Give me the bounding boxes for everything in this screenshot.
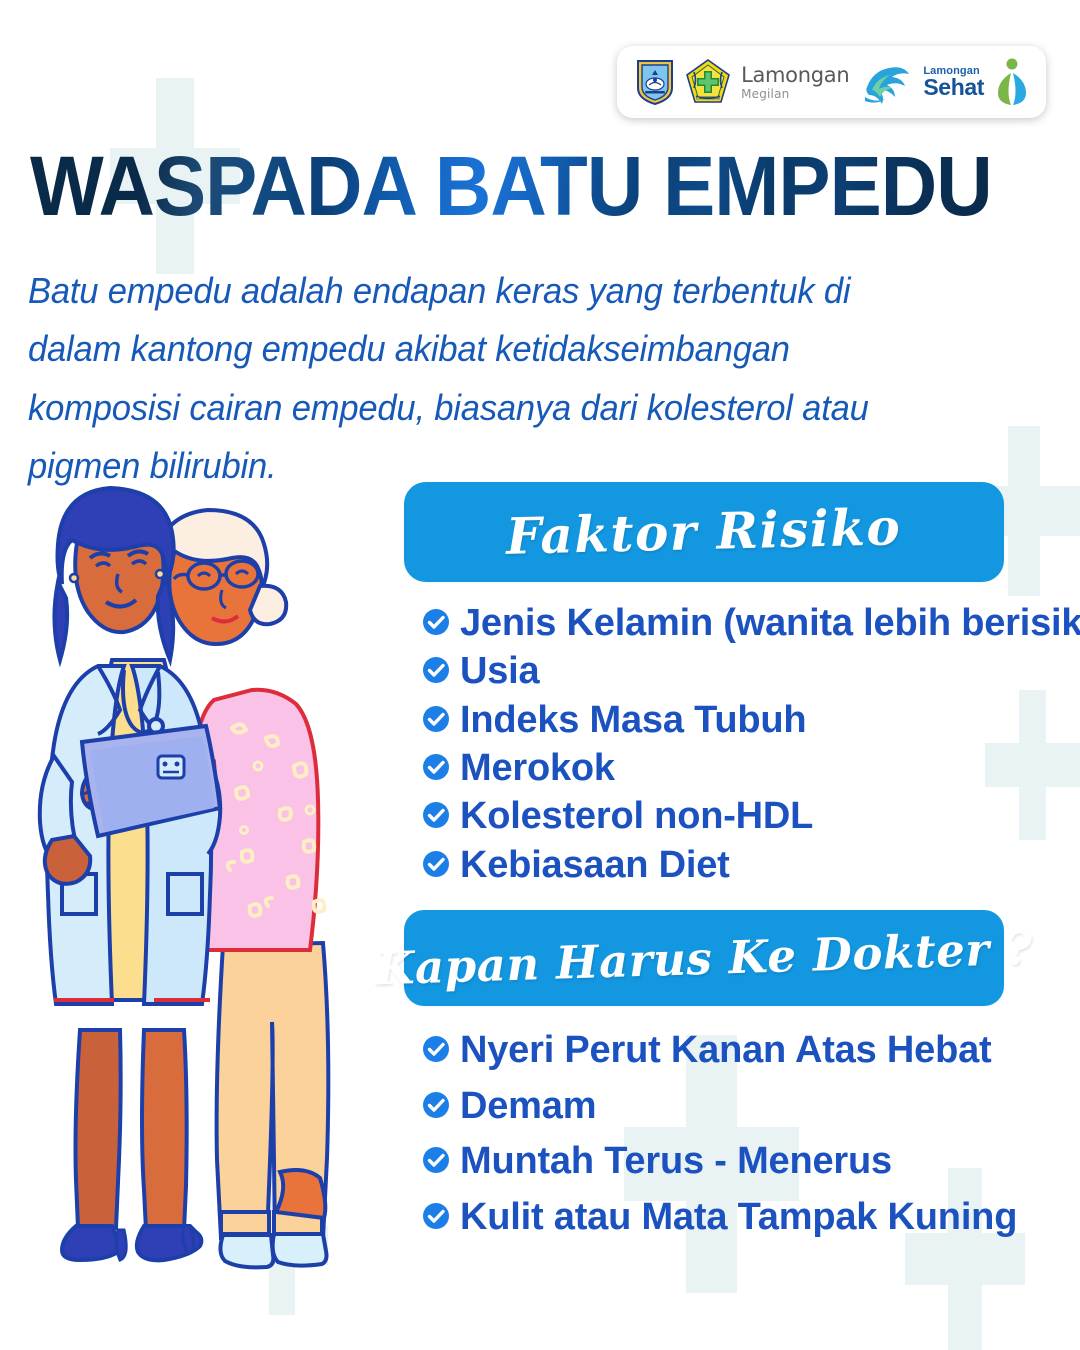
list-item-label: Jenis Kelamin (wanita lebih berisiko) xyxy=(460,600,1080,646)
list-item-label: Demam xyxy=(460,1084,596,1130)
banner-faktor-risiko-label: Faktor Risiko xyxy=(506,502,902,562)
risk-factor-list: Jenis Kelamin (wanita lebih berisiko) Us… xyxy=(404,600,1004,888)
check-circle-icon xyxy=(422,705,450,733)
check-circle-icon xyxy=(422,1202,450,1230)
banner-kapan-ke-dokter: Kapan Harus Ke Dokter ? xyxy=(404,910,1004,1006)
lamongan-sehat-wordmark: Lamongan Sehat xyxy=(923,66,984,99)
list-item: Indeks Masa Tubuh xyxy=(422,697,1004,743)
list-item-label: Nyeri Perut Kanan Atas Hebat xyxy=(460,1028,991,1074)
check-circle-icon xyxy=(422,1035,450,1063)
logo-bar: LAMONGAN Lamongan Megilan Lamongan Sehat xyxy=(617,46,1046,118)
list-item: Kolesterol non-HDL xyxy=(422,793,1004,839)
list-item: Merokok xyxy=(422,745,1004,791)
list-item-label: Kulit atau Mata Tampak Kuning xyxy=(460,1195,1017,1241)
content-column: Faktor Risiko Jenis Kelamin (wanita lebi… xyxy=(404,482,1004,1251)
list-item-label: Kebiasaan Diet xyxy=(460,842,730,888)
list-item-label: Indeks Masa Tubuh xyxy=(460,697,806,743)
check-circle-icon xyxy=(422,801,450,829)
page-title: WASPADA BATU EMPEDU xyxy=(30,148,992,225)
symptom-list: Nyeri Perut Kanan Atas Hebat Demam Munta… xyxy=(404,1028,1004,1240)
lamongan-wave-icon xyxy=(859,57,913,107)
banner-kapan-ke-dokter-label: Kapan Harus Ke Dokter ? xyxy=(374,925,1033,991)
check-circle-icon xyxy=(422,656,450,684)
list-item: Demam xyxy=(422,1084,1004,1130)
check-circle-icon xyxy=(422,1091,450,1119)
list-item-label: Usia xyxy=(460,648,539,694)
list-item: Jenis Kelamin (wanita lebih berisiko) xyxy=(422,600,1004,646)
list-item-label: Muntah Terus - Menerus xyxy=(460,1139,892,1185)
list-item: Kulit atau Mata Tampak Kuning xyxy=(422,1195,1004,1241)
list-item: Usia xyxy=(422,648,1004,694)
list-item: Kebiasaan Diet xyxy=(422,842,1004,888)
list-item: Nyeri Perut Kanan Atas Hebat xyxy=(422,1028,1004,1074)
wordmark-lamongan: Lamongan xyxy=(741,65,849,86)
wordmark-megilan: Megilan xyxy=(741,88,849,100)
lamongan-megilan-wordmark: Lamongan Megilan xyxy=(741,65,849,100)
check-circle-icon xyxy=(422,850,450,878)
lamongan-regency-emblem: LAMONGAN xyxy=(685,58,731,106)
sehat-wordmark-line2: Sehat xyxy=(923,76,984,99)
east-java-province-emblem xyxy=(635,58,675,106)
check-circle-icon xyxy=(422,608,450,636)
intro-paragraph: Batu empedu adalah endapan keras yang te… xyxy=(28,262,950,495)
check-circle-icon xyxy=(422,753,450,781)
list-item-label: Kolesterol non-HDL xyxy=(460,793,813,839)
list-item-label: Merokok xyxy=(460,745,615,791)
check-circle-icon xyxy=(422,1146,450,1174)
doctor-and-patient-illustration xyxy=(18,470,418,1280)
lamongan-sehat-leaf-icon xyxy=(994,57,1028,107)
list-item: Muntah Terus - Menerus xyxy=(422,1139,1004,1185)
banner-faktor-risiko: Faktor Risiko xyxy=(404,482,1004,582)
svg-text:LAMONGAN: LAMONGAN xyxy=(696,96,720,101)
